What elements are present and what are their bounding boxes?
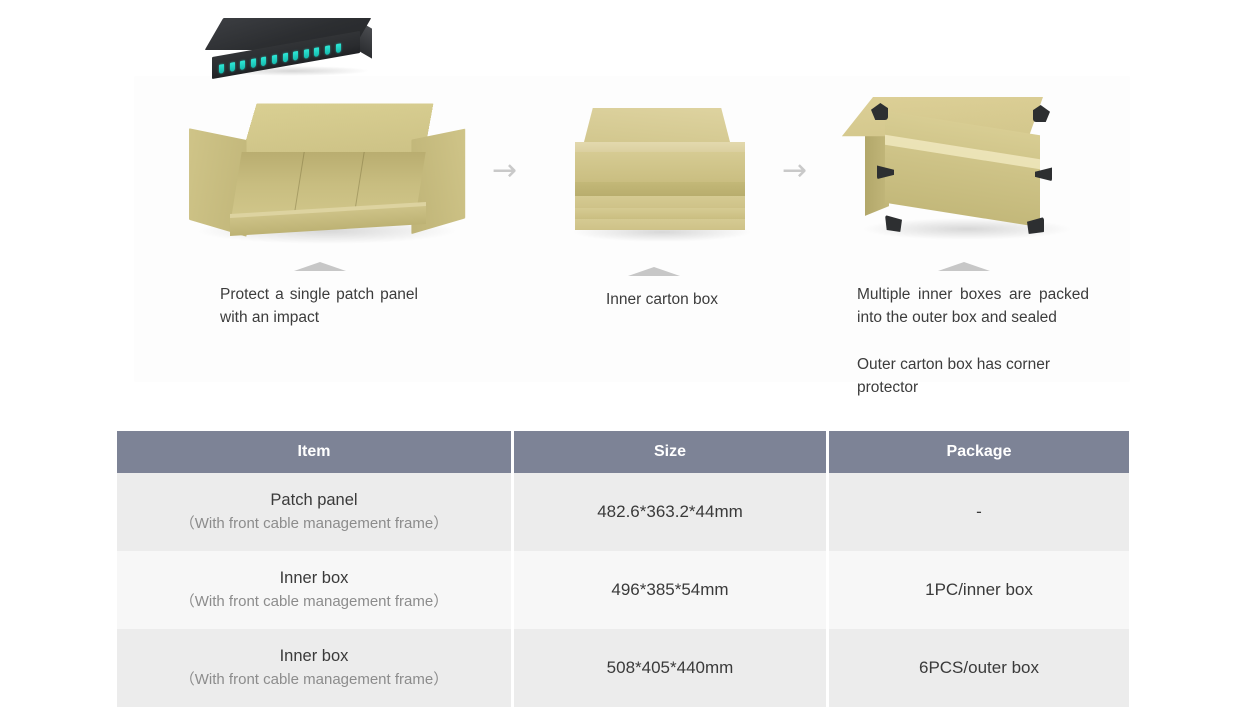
stack-layer: [575, 208, 745, 219]
cell-item: Inner box （With front cable management f…: [117, 551, 511, 629]
step-1-caption: Protect a single patch panel with an imp…: [220, 283, 418, 329]
caret-up-icon: [294, 262, 346, 271]
item-name: Patch panel: [123, 488, 505, 512]
lc-port-icon: [293, 51, 298, 61]
item-name: Inner box: [123, 644, 505, 668]
item-note: （With front cable management frame）: [123, 590, 505, 614]
lc-port-icon: [325, 45, 330, 55]
cell-size: 482.6*363.2*44mm: [514, 473, 826, 551]
stack-layer: [575, 142, 745, 152]
column-header-item: Item: [117, 431, 511, 473]
lc-port-icon: [240, 60, 245, 70]
lc-port-icon: [314, 47, 319, 57]
stack-layer: [575, 196, 745, 208]
column-header-size: Size: [514, 431, 826, 473]
open-carton-box-icon: [178, 100, 468, 250]
packaging-illustration-stage: → → Protect a single patch panel with an…: [0, 0, 1240, 412]
column-header-package: Package: [829, 431, 1129, 473]
caret-up-icon: [628, 267, 680, 276]
stack-layer: [575, 152, 745, 182]
cell-item: Inner box （With front cable management f…: [117, 629, 511, 707]
lc-port-icon: [272, 55, 277, 65]
table-row: Inner box （With front cable management f…: [117, 629, 1129, 707]
caret-up-icon: [938, 262, 990, 271]
step-3-caption-line-1: Multiple inner boxes are packed into the…: [857, 283, 1089, 329]
lc-port-icon: [283, 53, 288, 63]
item-note: （With front cable management frame）: [123, 668, 505, 692]
stack-layer: [575, 182, 745, 196]
sealed-outer-box-icon: [855, 95, 1080, 245]
lc-port-icon: [304, 49, 309, 59]
item-name: Inner box: [123, 566, 505, 590]
cell-item: Patch panel （With front cable management…: [117, 473, 511, 551]
cell-size: 496*385*54mm: [514, 551, 826, 629]
lc-port-icon: [251, 58, 256, 68]
arrow-right-icon: →: [782, 156, 807, 186]
arrow-right-icon: →: [492, 156, 517, 186]
item-note: （With front cable management frame）: [123, 512, 505, 536]
table-row: Inner box （With front cable management f…: [117, 551, 1129, 629]
table-row: Patch panel （With front cable management…: [117, 473, 1129, 551]
cell-package: -: [829, 473, 1129, 551]
cell-package: 6PCS/outer box: [829, 629, 1129, 707]
lc-port-icon: [336, 43, 341, 53]
lc-port-icon: [230, 62, 235, 72]
cell-size: 508*405*440mm: [514, 629, 826, 707]
lc-port-icon: [219, 64, 224, 74]
stack-lid: [584, 108, 730, 142]
step-2-caption: Inner carton box: [562, 288, 762, 311]
stacked-inner-boxes-icon: [570, 108, 750, 232]
table-header-row: Item Size Package: [117, 431, 1129, 473]
corner-protector-icon: [885, 215, 902, 232]
packaging-spec-table: Item Size Package Patch panel （With fron…: [114, 431, 1132, 707]
step-3-caption-line-2: Outer carton box has corner protector: [857, 353, 1097, 399]
stack-layer: [575, 219, 745, 230]
cell-package: 1PC/inner box: [829, 551, 1129, 629]
lc-port-icon: [261, 56, 266, 66]
fiber-patch-panel-illustration: [200, 4, 380, 84]
